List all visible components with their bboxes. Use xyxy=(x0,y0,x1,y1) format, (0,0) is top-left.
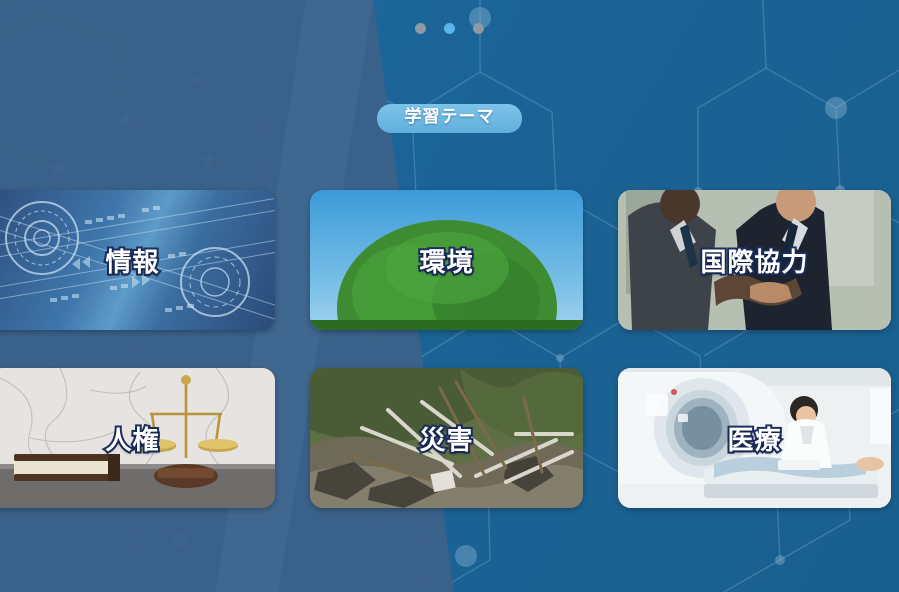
theme-card-label: 情報 xyxy=(0,190,275,330)
theme-card-human-rights[interactable]: 人権 xyxy=(0,368,275,508)
theme-card-info[interactable]: 情報 xyxy=(0,190,275,330)
learning-theme-screen: 学習テーマ xyxy=(0,0,899,592)
theme-card-environment[interactable]: 環境 xyxy=(310,190,583,330)
theme-card-label: 人権 xyxy=(0,368,275,508)
theme-card-label: 災害 xyxy=(310,368,583,508)
theme-card-label: 医療 xyxy=(618,368,891,508)
pagination-dot-1[interactable] xyxy=(415,23,426,34)
theme-card-medical[interactable]: 医療 xyxy=(618,368,891,508)
theme-card-label: 国際協力 xyxy=(618,190,891,330)
pagination-dot-3[interactable] xyxy=(473,23,484,34)
pagination-dot-2[interactable] xyxy=(444,23,455,34)
theme-card-international-cooperation[interactable]: 国際協力 xyxy=(618,190,891,330)
pagination-dots xyxy=(0,23,899,34)
theme-card-label: 環境 xyxy=(310,190,583,330)
page-title-badge: 学習テーマ xyxy=(377,104,522,133)
theme-card-disaster[interactable]: 災害 xyxy=(310,368,583,508)
page-title-container: 学習テーマ xyxy=(0,104,899,133)
theme-card-grid: 情報 環境 xyxy=(0,190,899,508)
